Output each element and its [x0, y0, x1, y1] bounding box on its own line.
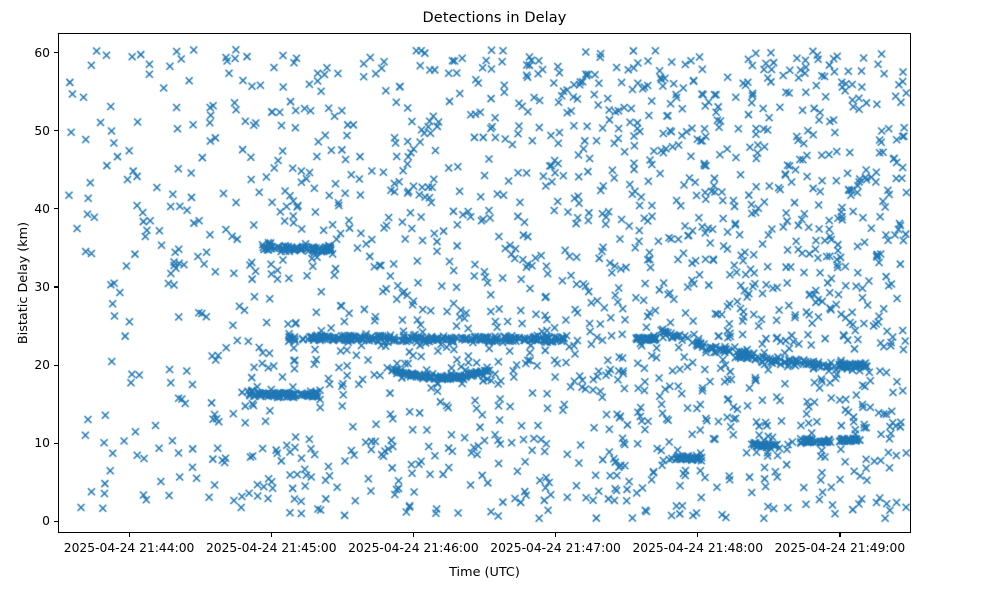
x-tick-label: 2025-04-24 21:44:00	[64, 541, 195, 555]
x-tick-mark	[271, 533, 272, 537]
x-tick-mark	[555, 533, 556, 537]
y-tick-mark	[54, 130, 58, 131]
x-tick-label: 2025-04-24 21:48:00	[632, 541, 763, 555]
x-tick-label: 2025-04-24 21:46:00	[348, 541, 479, 555]
x-tick-mark	[129, 533, 130, 537]
x-tick-mark	[839, 533, 840, 537]
y-tick-mark	[54, 443, 58, 444]
y-tick-mark	[54, 208, 58, 209]
y-axis-label: Bistatic Delay (km)	[16, 33, 34, 533]
x-axis-label: Time (UTC)	[58, 565, 911, 580]
x-tick-label: 2025-04-24 21:47:00	[490, 541, 621, 555]
matplotlib-figure: Detections in Delay 0102030405060 2025-0…	[0, 0, 989, 590]
x-tick-mark	[413, 533, 414, 537]
scatter-plot-canvas	[59, 34, 911, 533]
y-tick-mark	[54, 365, 58, 366]
x-tick-label: 2025-04-24 21:45:00	[206, 541, 337, 555]
x-tick-label: 2025-04-24 21:49:00	[775, 541, 906, 555]
y-tick-mark	[54, 52, 58, 53]
y-tick-mark	[54, 521, 58, 522]
plot-axes-area	[58, 33, 911, 533]
y-tick-mark	[54, 286, 58, 287]
chart-title: Detections in Delay	[0, 10, 989, 26]
x-tick-mark	[697, 533, 698, 537]
